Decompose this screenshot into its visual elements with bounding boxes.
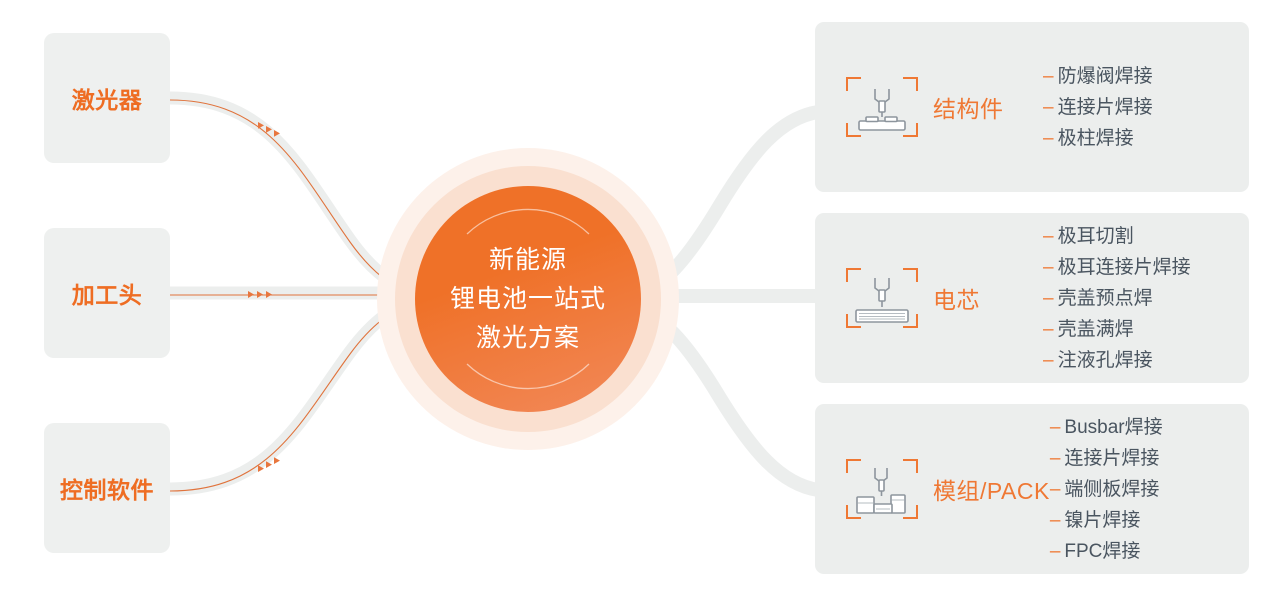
- list-item: – 端侧板焊接: [1050, 474, 1249, 505]
- dash-icon: –: [1043, 283, 1054, 314]
- dash-icon: –: [1043, 252, 1054, 283]
- input-card-laser-source[interactable]: 激光器: [44, 33, 170, 163]
- list-item: – 注液孔焊接: [1043, 345, 1249, 376]
- dash-icon: –: [1043, 92, 1054, 123]
- hub-title-line-2: 锂电池一站式: [450, 280, 606, 319]
- application-feature-list: – 极耳切割 – 极耳连接片焊接 – 壳盖预点焊 – 壳盖满焊 – 注液孔焊接: [1043, 221, 1249, 376]
- dash-icon: –: [1043, 61, 1054, 92]
- list-item: – 壳盖预点焊: [1043, 283, 1249, 314]
- dash-icon: –: [1050, 536, 1061, 567]
- list-item: – Busbar焊接: [1050, 412, 1249, 443]
- list-item-label: 极耳切割: [1058, 221, 1134, 252]
- input-card-label: 控制软件: [60, 471, 154, 505]
- laser-welding-plate-icon: [845, 75, 919, 139]
- list-item: – FPC焊接: [1050, 536, 1249, 567]
- hub-title-line-1: 新能源: [489, 241, 567, 280]
- application-feature-list: – Busbar焊接 – 连接片焊接 – 端侧板焊接 – 镍片焊接 – FPC焊…: [1050, 412, 1249, 567]
- list-item: – 极柱焊接: [1043, 123, 1249, 154]
- application-card-module-pack[interactable]: 模组/PACK – Busbar焊接 – 连接片焊接 – 端侧板焊接 – 镍片焊…: [815, 404, 1249, 574]
- application-feature-list: – 防爆阀焊接 – 连接片焊接 – 极柱焊接: [1043, 61, 1249, 154]
- hub-title: 新能源 锂电池一站式 激光方案: [415, 186, 641, 412]
- list-item-label: Busbar焊接: [1064, 412, 1162, 443]
- list-item-label: 极耳连接片焊接: [1058, 252, 1191, 283]
- list-item: – 极耳连接片焊接: [1043, 252, 1249, 283]
- diagram-canvas: 新能源 锂电池一站式 激光方案 激光器 加工头 控制软件: [0, 0, 1276, 598]
- list-item-label: 连接片焊接: [1058, 92, 1153, 123]
- dash-icon: –: [1050, 505, 1061, 536]
- dash-icon: –: [1043, 123, 1054, 154]
- list-item-label: 壳盖预点焊: [1058, 283, 1153, 314]
- list-item: – 防爆阀焊接: [1043, 61, 1249, 92]
- dash-icon: –: [1043, 314, 1054, 345]
- list-item-label: 端侧板焊接: [1064, 474, 1159, 505]
- list-item-label: 防爆阀焊接: [1058, 61, 1153, 92]
- input-card-control-software[interactable]: 控制软件: [44, 423, 170, 553]
- list-item-label: 注液孔焊接: [1058, 345, 1153, 376]
- hub-title-line-3: 激光方案: [476, 319, 580, 358]
- dash-icon: –: [1050, 474, 1061, 505]
- dash-icon: –: [1050, 443, 1061, 474]
- list-item: – 连接片焊接: [1050, 443, 1249, 474]
- laser-welding-cell-icon: [845, 266, 919, 330]
- application-card-cell[interactable]: 电芯 – 极耳切割 – 极耳连接片焊接 – 壳盖预点焊 – 壳盖满焊 – 注液孔…: [815, 213, 1249, 383]
- application-card-structural-parts[interactable]: 结构件 – 防爆阀焊接 – 连接片焊接 – 极柱焊接: [815, 22, 1249, 192]
- list-item-label: FPC焊接: [1064, 536, 1140, 567]
- list-item-label: 连接片焊接: [1064, 443, 1159, 474]
- input-card-processing-head[interactable]: 加工头: [44, 228, 170, 358]
- list-item: – 连接片焊接: [1043, 92, 1249, 123]
- list-item-label: 壳盖满焊: [1058, 314, 1134, 345]
- application-card-title: 结构件: [933, 90, 1004, 124]
- input-card-label: 加工头: [72, 276, 143, 310]
- list-item: – 镍片焊接: [1050, 505, 1249, 536]
- list-item: – 极耳切割: [1043, 221, 1249, 252]
- application-card-title: 电芯: [933, 281, 980, 315]
- input-card-label: 激光器: [72, 81, 143, 115]
- dash-icon: –: [1043, 345, 1054, 376]
- center-hub: 新能源 锂电池一站式 激光方案: [377, 148, 679, 450]
- laser-welding-module-icon: [845, 457, 919, 521]
- dash-icon: –: [1050, 412, 1061, 443]
- list-item-label: 极柱焊接: [1058, 123, 1134, 154]
- dash-icon: –: [1043, 221, 1054, 252]
- list-item: – 壳盖满焊: [1043, 314, 1249, 345]
- application-card-title: 模组/PACK: [933, 472, 1050, 506]
- list-item-label: 镍片焊接: [1064, 505, 1140, 536]
